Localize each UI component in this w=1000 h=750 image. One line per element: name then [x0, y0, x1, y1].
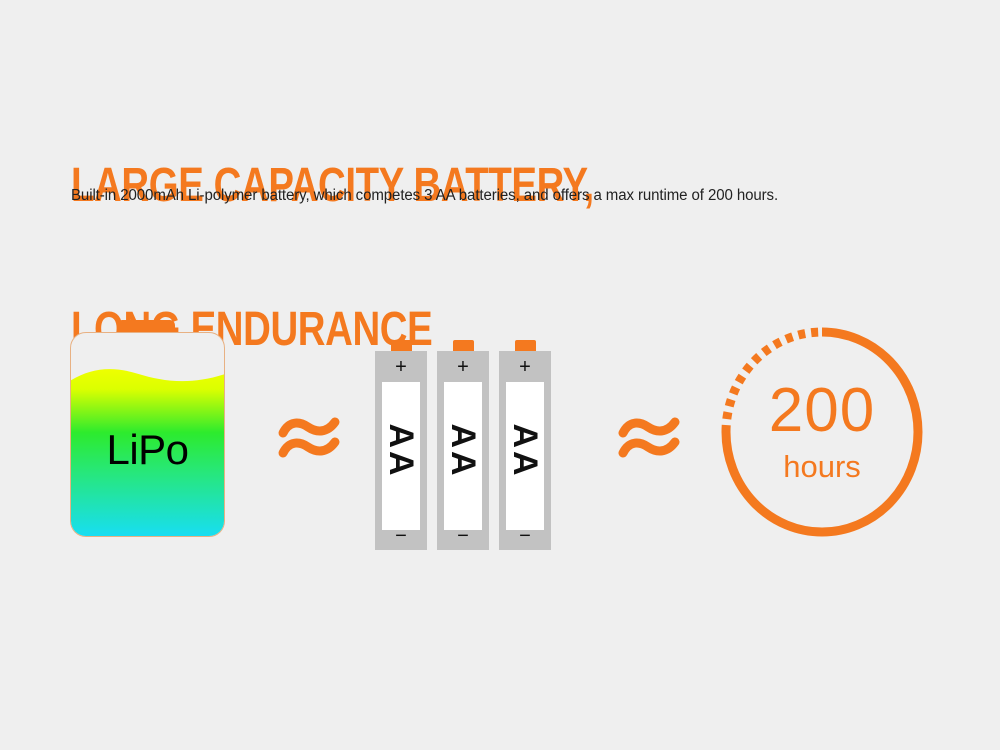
aa-plus-sign: + [437, 357, 489, 377]
approximately-equal-icon-2 [615, 405, 685, 475]
aa-battery-label: AA [384, 423, 418, 478]
approximately-equal-icon-1 [275, 405, 345, 475]
aa-battery: + AA − [437, 340, 489, 550]
aa-battery: + AA − [375, 340, 427, 550]
runtime-text: 200 hours [712, 380, 932, 484]
aa-battery-body: + AA − [499, 351, 551, 550]
aa-plus-sign: + [499, 357, 551, 377]
aa-battery-label: AA [446, 423, 480, 478]
page-subtitle: Built-in 2000mAh Li-polymer battery, whi… [71, 186, 778, 206]
aa-minus-sign: − [437, 526, 489, 546]
lipo-battery-graphic: LiPo [70, 320, 230, 565]
slide-root: LARGE CAPACITY BATTERY, LONG ENDURANCE B… [0, 0, 1000, 750]
aa-battery-label: AA [508, 423, 542, 478]
aa-plus-sign: + [375, 357, 427, 377]
aa-minus-sign: − [375, 526, 427, 546]
aa-minus-sign: − [499, 526, 551, 546]
aa-battery: + AA − [499, 340, 551, 550]
runtime-number: 200 [712, 380, 932, 442]
aa-battery-group: + AA − + AA − + [375, 325, 565, 565]
lipo-label: LiPo [71, 429, 224, 471]
runtime-ring-graphic: 200 hours [712, 318, 932, 546]
runtime-unit: hours [712, 450, 932, 484]
aa-battery-body: + AA − [375, 351, 427, 550]
comparison-graphic: LiPo + AA − [0, 300, 1000, 580]
aa-battery-body: + AA − [437, 351, 489, 550]
lipo-battery-body: LiPo [70, 332, 225, 537]
